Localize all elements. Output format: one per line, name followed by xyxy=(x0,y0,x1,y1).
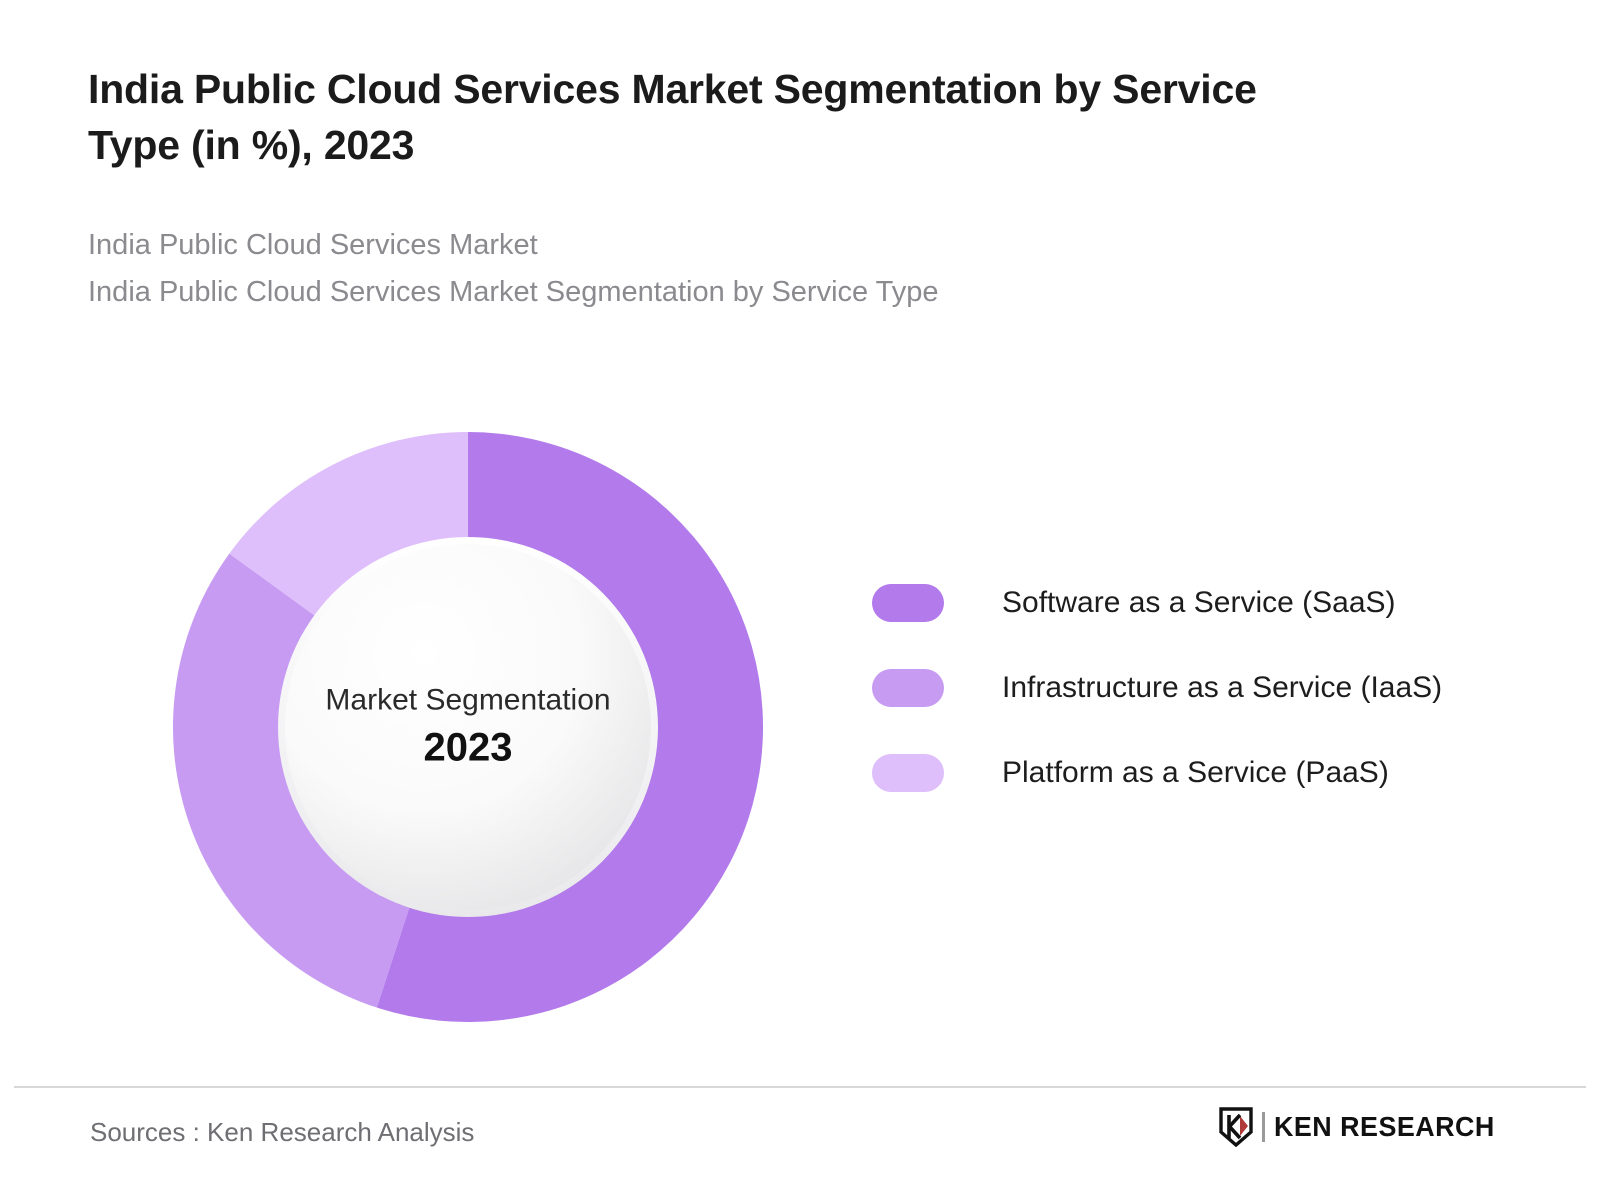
chart-area: Market Segmentation 2023 Software as a S… xyxy=(0,380,1600,1060)
subtitle-line-1: India Public Cloud Services Market xyxy=(88,222,1418,270)
footer: Sources : Ken Research Analysis KEN RESE… xyxy=(0,1086,1600,1200)
brand-divider xyxy=(1262,1112,1265,1142)
legend: Software as a Service (SaaS) Infrastruct… xyxy=(872,560,1512,815)
brand-logo: KEN RESEARCH xyxy=(1218,1106,1504,1148)
donut-chart: Market Segmentation 2023 xyxy=(173,432,763,1022)
chart-slide: India Public Cloud Services Market Segme… xyxy=(0,0,1600,1200)
header: India Public Cloud Services Market Segme… xyxy=(88,62,1418,317)
brand-name: KEN RESEARCH xyxy=(1274,1111,1495,1143)
legend-swatch-icon xyxy=(872,584,944,622)
subtitle-line-2: India Public Cloud Services Market Segme… xyxy=(88,269,1418,317)
legend-item-iaas[interactable]: Infrastructure as a Service (IaaS) xyxy=(872,645,1512,730)
sources-note: Sources : Ken Research Analysis xyxy=(90,1117,474,1148)
legend-swatch-icon xyxy=(872,754,944,792)
legend-swatch-icon xyxy=(872,669,944,707)
legend-label: Platform as a Service (PaaS) xyxy=(1002,756,1389,790)
legend-item-saas[interactable]: Software as a Service (SaaS) xyxy=(872,560,1512,645)
legend-item-paas[interactable]: Platform as a Service (PaaS) xyxy=(872,730,1512,815)
ken-research-shield-k-logo-icon xyxy=(1218,1107,1254,1147)
legend-label: Software as a Service (SaaS) xyxy=(1002,586,1396,620)
donut-hole xyxy=(285,544,651,910)
legend-label: Infrastructure as a Service (IaaS) xyxy=(1002,671,1442,705)
donut-svg xyxy=(173,432,763,1022)
subtitle-block: India Public Cloud Services Market India… xyxy=(88,222,1418,318)
page-title: India Public Cloud Services Market Segme… xyxy=(88,62,1358,174)
